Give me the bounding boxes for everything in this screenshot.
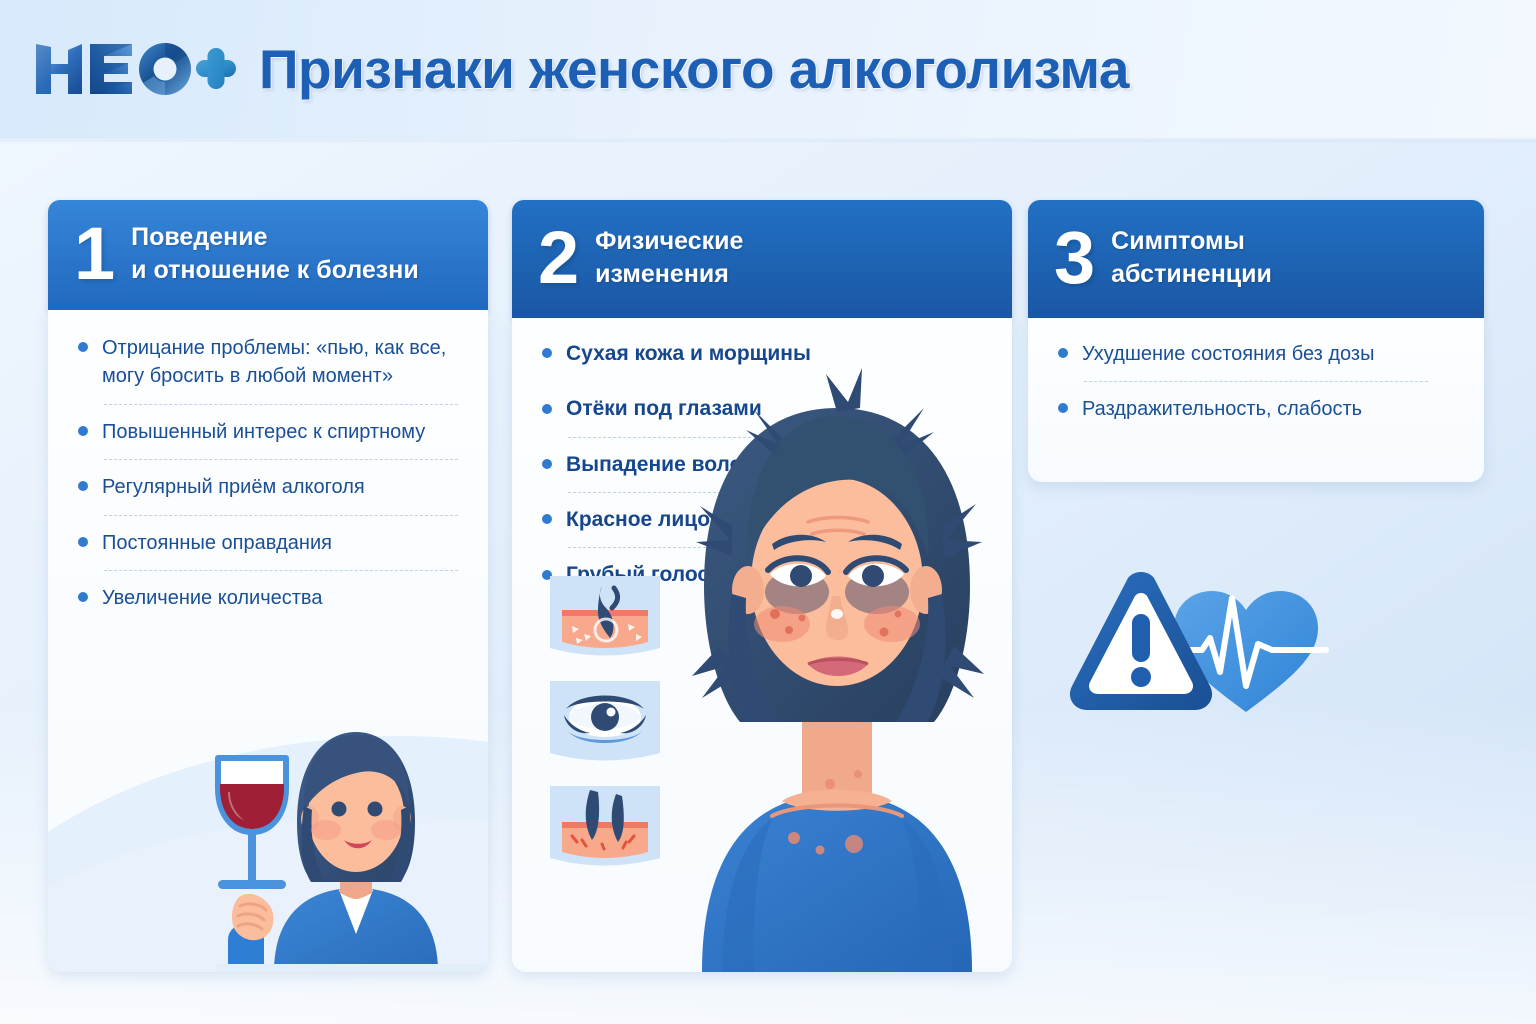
list-item: Увеличение количества bbox=[74, 584, 462, 612]
card-3-header: 3 Симптомы абстиненции bbox=[1028, 200, 1484, 318]
card-1-header: 1 Поведение и отношение к болезни bbox=[48, 200, 488, 310]
list-item-label: Постоянные оправдания bbox=[102, 529, 462, 557]
cards-container: 1 Поведение и отношение к болезни Отрица… bbox=[0, 140, 1536, 1024]
bullet-icon bbox=[78, 537, 88, 547]
card-1-title-line2: и отношение к болезни bbox=[131, 254, 419, 287]
list-item-label: Увеличение количества bbox=[102, 584, 462, 612]
list-item: Постоянные оправдания bbox=[74, 529, 462, 557]
card-withdrawal-symptoms: 3 Симптомы абстиненции Ухудшение состоян… bbox=[1028, 200, 1484, 482]
woman-with-wine-glass-illustration bbox=[156, 702, 488, 972]
eye-with-bags-icon bbox=[550, 681, 660, 761]
card-1-list: Отрицание проблемы: «пью, как все, могу … bbox=[48, 310, 488, 630]
neo-plus-logo bbox=[32, 38, 237, 100]
card-behavior: 1 Поведение и отношение к болезни Отрица… bbox=[48, 200, 488, 972]
bullet-icon bbox=[1058, 348, 1068, 358]
card-1-title: Поведение и отношение к болезни bbox=[131, 221, 433, 287]
list-item: Повышенный интерес к спиртному bbox=[74, 418, 462, 446]
card-2-title-line2: изменения bbox=[595, 258, 743, 291]
list-item-label: Ухудшение состояния без дозы bbox=[1082, 340, 1458, 368]
card-1-number: 1 bbox=[74, 220, 115, 288]
separator bbox=[104, 570, 458, 571]
bullet-icon bbox=[1058, 403, 1068, 413]
separator bbox=[104, 404, 458, 405]
bullet-icon bbox=[542, 404, 552, 414]
card-2-number: 2 bbox=[538, 224, 579, 292]
page-header: Признаки женского алкоголизма bbox=[0, 0, 1536, 140]
page-title: Признаки женского алкоголизма bbox=[259, 37, 1129, 101]
separator bbox=[1084, 381, 1428, 382]
card-2-title: Физические изменения bbox=[595, 225, 757, 291]
bullet-icon bbox=[542, 459, 552, 469]
card-3-body: Ухудшение состояния без дозы Раздражител… bbox=[1028, 318, 1484, 482]
card-3-title-line2: абстиненции bbox=[1111, 258, 1272, 291]
card-3-title: Симптомы абстиненции bbox=[1111, 225, 1286, 291]
separator bbox=[104, 515, 458, 516]
warning-and-heartbeat-illustration bbox=[1050, 560, 1340, 740]
card-2-title-line1: Физические bbox=[595, 225, 743, 258]
card-1-body: Отрицание проблемы: «пью, как все, могу … bbox=[48, 310, 488, 972]
list-item-label: Регулярный приём алкоголя bbox=[102, 473, 462, 501]
card-3-list: Ухудшение состояния без дозы Раздражител… bbox=[1028, 318, 1484, 441]
physical-icon-tiles bbox=[540, 568, 670, 868]
list-item: Регулярный приём алкоголя bbox=[74, 473, 462, 501]
bullet-icon bbox=[78, 426, 88, 436]
skin-follicle-icon bbox=[550, 576, 660, 656]
bullet-icon bbox=[542, 348, 552, 358]
list-item: Ухудшение состояния без дозы bbox=[1054, 340, 1458, 368]
list-item-label: Отрицание проблемы: «пью, как все, могу … bbox=[102, 334, 462, 391]
list-item: Отрицание проблемы: «пью, как все, могу … bbox=[74, 334, 462, 391]
list-item-label: Повышенный интерес к спиртному bbox=[102, 418, 462, 446]
list-item-label: Раздражительность, слабость bbox=[1082, 395, 1458, 423]
bullet-icon bbox=[542, 514, 552, 524]
bullet-icon bbox=[78, 481, 88, 491]
card-1-title-line1: Поведение bbox=[131, 221, 419, 254]
card-2-body: Сухая кожа и морщины Отёки под глазами В… bbox=[512, 318, 1012, 972]
separator bbox=[104, 459, 458, 460]
card-3-number: 3 bbox=[1054, 224, 1095, 292]
bullet-icon bbox=[78, 592, 88, 602]
bullet-icon bbox=[78, 342, 88, 352]
card-2-header: 2 Физические изменения bbox=[512, 200, 1012, 318]
hair-loss-follicle-icon bbox=[550, 786, 660, 866]
list-item: Раздражительность, слабость bbox=[1054, 395, 1458, 423]
card-physical-changes: 2 Физические изменения Сухая кожа и морщ… bbox=[512, 200, 1012, 972]
card-3-title-line1: Симптомы bbox=[1111, 225, 1272, 258]
tired-woman-illustration bbox=[662, 346, 1012, 972]
